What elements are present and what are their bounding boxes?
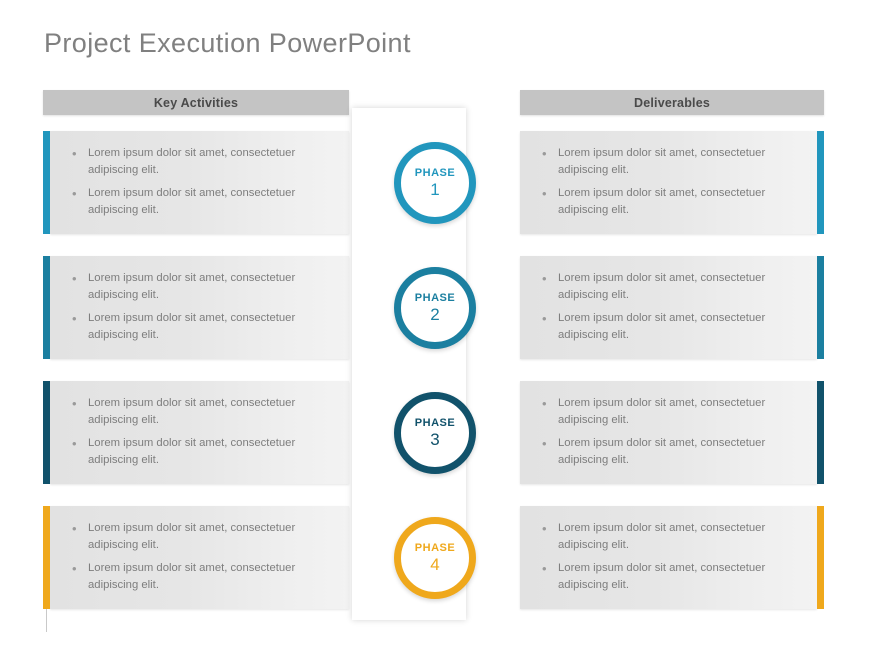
phase-4-left-row: •Lorem ipsum dolor sit amet, consectetue… [43, 506, 349, 609]
phase-2-right-content: •Lorem ipsum dolor sit amet, consectetue… [520, 256, 817, 359]
list-item: •Lorem ipsum dolor sit amet, consectetue… [72, 185, 333, 219]
bullet-dot-icon: • [72, 560, 88, 577]
list-item-text: Lorem ipsum dolor sit amet, consectetuer… [88, 145, 333, 179]
phase-2-right-row: •Lorem ipsum dolor sit amet, consectetue… [520, 256, 824, 359]
list-item: •Lorem ipsum dolor sit amet, consectetue… [542, 560, 801, 594]
bullet-dot-icon: • [72, 185, 88, 202]
phase-3-right-accent-bar [817, 381, 824, 484]
list-item-text: Lorem ipsum dolor sit amet, consectetuer… [88, 185, 333, 219]
list-item: •Lorem ipsum dolor sit amet, consectetue… [72, 145, 333, 179]
bullet-dot-icon: • [72, 310, 88, 327]
bullet-dot-icon: • [72, 520, 88, 537]
list-item-text: Lorem ipsum dolor sit amet, consectetuer… [558, 520, 801, 554]
phase-1-right-content: •Lorem ipsum dolor sit amet, consectetue… [520, 131, 817, 234]
list-item: •Lorem ipsum dolor sit amet, consectetue… [72, 435, 333, 469]
phase-2-circle[interactable]: PHASE2 [394, 267, 476, 349]
phase-2-label: PHASE [415, 291, 455, 305]
bullet-dot-icon: • [542, 520, 558, 537]
phase-3-left-accent-bar [43, 381, 50, 484]
bullet-dot-icon: • [542, 395, 558, 412]
list-item: •Lorem ipsum dolor sit amet, consectetue… [72, 560, 333, 594]
phase-1-number: 1 [430, 180, 439, 200]
phase-1-label: PHASE [415, 166, 455, 180]
list-item: •Lorem ipsum dolor sit amet, consectetue… [542, 185, 801, 219]
phase-3-circle[interactable]: PHASE3 [394, 392, 476, 474]
bullet-dot-icon: • [72, 435, 88, 452]
list-item-text: Lorem ipsum dolor sit amet, consectetuer… [558, 560, 801, 594]
list-item: •Lorem ipsum dolor sit amet, consectetue… [72, 310, 333, 344]
phase-4-left-content: •Lorem ipsum dolor sit amet, consectetue… [50, 506, 349, 609]
phase-3-left-content: •Lorem ipsum dolor sit amet, consectetue… [50, 381, 349, 484]
column-header-deliverables: Deliverables [520, 90, 824, 115]
phase-4-right-content: •Lorem ipsum dolor sit amet, consectetue… [520, 506, 817, 609]
slide-canvas: Project Execution PowerPoint Key Activit… [0, 0, 870, 653]
list-item-text: Lorem ipsum dolor sit amet, consectetuer… [88, 435, 333, 469]
column-header-key-activities: Key Activities [43, 90, 349, 115]
list-item-text: Lorem ipsum dolor sit amet, consectetuer… [558, 270, 801, 304]
phase-1-right-row: •Lorem ipsum dolor sit amet, consectetue… [520, 131, 824, 234]
phase-1-left-content: •Lorem ipsum dolor sit amet, consectetue… [50, 131, 349, 234]
list-item: •Lorem ipsum dolor sit amet, consectetue… [72, 270, 333, 304]
phase-1-right-accent-bar [817, 131, 824, 234]
bullet-dot-icon: • [542, 310, 558, 327]
list-item-text: Lorem ipsum dolor sit amet, consectetuer… [558, 395, 801, 429]
bullet-dot-icon: • [542, 435, 558, 452]
bullet-dot-icon: • [72, 270, 88, 287]
bullet-dot-icon: • [542, 145, 558, 162]
bullet-dot-icon: • [72, 145, 88, 162]
phase-3-right-content: •Lorem ipsum dolor sit amet, consectetue… [520, 381, 817, 484]
column-header-deliverables-label: Deliverables [634, 96, 710, 110]
list-item-text: Lorem ipsum dolor sit amet, consectetuer… [558, 145, 801, 179]
list-item: •Lorem ipsum dolor sit amet, consectetue… [72, 520, 333, 554]
phase-3-left-row: •Lorem ipsum dolor sit amet, consectetue… [43, 381, 349, 484]
phase-3-right-row: •Lorem ipsum dolor sit amet, consectetue… [520, 381, 824, 484]
phase-1-left-accent-bar [43, 131, 50, 234]
phase-3-number: 3 [430, 430, 439, 450]
list-item: •Lorem ipsum dolor sit amet, consectetue… [542, 310, 801, 344]
phase-1-circle[interactable]: PHASE1 [394, 142, 476, 224]
column-header-key-activities-label: Key Activities [154, 96, 238, 110]
list-item-text: Lorem ipsum dolor sit amet, consectetuer… [88, 520, 333, 554]
timeline-tail-line [46, 608, 47, 632]
bullet-dot-icon: • [542, 185, 558, 202]
phase-4-right-row: •Lorem ipsum dolor sit amet, consectetue… [520, 506, 824, 609]
page-title: Project Execution PowerPoint [44, 28, 411, 59]
phase-2-left-row: •Lorem ipsum dolor sit amet, consectetue… [43, 256, 349, 359]
list-item-text: Lorem ipsum dolor sit amet, consectetuer… [558, 310, 801, 344]
phase-2-number: 2 [430, 305, 439, 325]
list-item: •Lorem ipsum dolor sit amet, consectetue… [542, 270, 801, 304]
phase-1-left-row: •Lorem ipsum dolor sit amet, consectetue… [43, 131, 349, 234]
bullet-dot-icon: • [542, 270, 558, 287]
bullet-dot-icon: • [542, 560, 558, 577]
phase-4-right-accent-bar [817, 506, 824, 609]
list-item-text: Lorem ipsum dolor sit amet, consectetuer… [88, 395, 333, 429]
bullet-dot-icon: • [72, 395, 88, 412]
phase-4-left-accent-bar [43, 506, 50, 609]
list-item: •Lorem ipsum dolor sit amet, consectetue… [542, 435, 801, 469]
phase-2-left-accent-bar [43, 256, 50, 359]
phase-2-left-content: •Lorem ipsum dolor sit amet, consectetue… [50, 256, 349, 359]
phase-2-right-accent-bar [817, 256, 824, 359]
list-item-text: Lorem ipsum dolor sit amet, consectetuer… [88, 560, 333, 594]
list-item: •Lorem ipsum dolor sit amet, consectetue… [542, 395, 801, 429]
phase-4-number: 4 [430, 555, 439, 575]
list-item-text: Lorem ipsum dolor sit amet, consectetuer… [558, 185, 801, 219]
list-item-text: Lorem ipsum dolor sit amet, consectetuer… [88, 310, 333, 344]
list-item: •Lorem ipsum dolor sit amet, consectetue… [72, 395, 333, 429]
phase-3-label: PHASE [415, 416, 455, 430]
list-item-text: Lorem ipsum dolor sit amet, consectetuer… [88, 270, 333, 304]
list-item: •Lorem ipsum dolor sit amet, consectetue… [542, 520, 801, 554]
phase-4-circle[interactable]: PHASE4 [394, 517, 476, 599]
phase-4-label: PHASE [415, 541, 455, 555]
list-item-text: Lorem ipsum dolor sit amet, consectetuer… [558, 435, 801, 469]
list-item: •Lorem ipsum dolor sit amet, consectetue… [542, 145, 801, 179]
